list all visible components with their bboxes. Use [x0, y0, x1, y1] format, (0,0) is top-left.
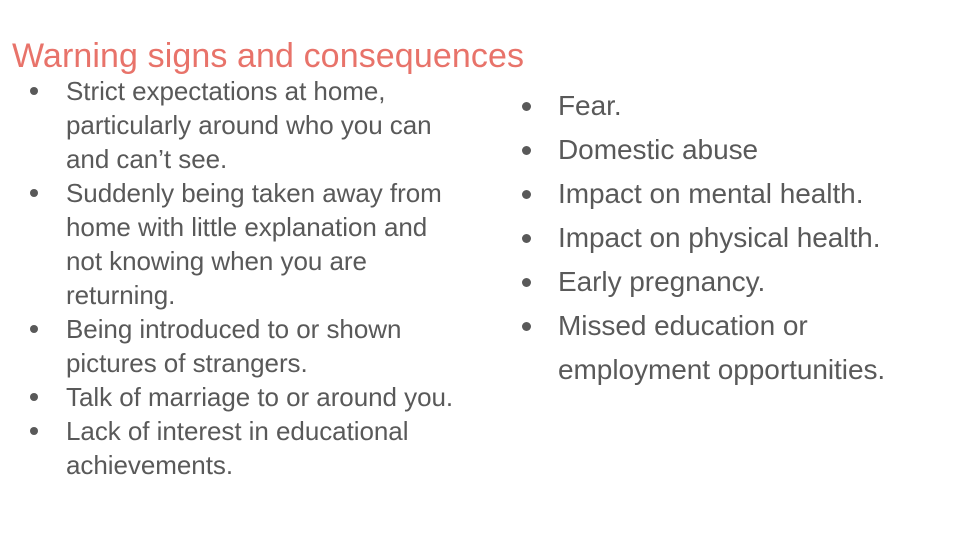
bullet-point-icon	[30, 427, 38, 435]
bullet-point-icon	[522, 322, 531, 331]
list-item[interactable]: Being introduced to or shown pictures of…	[22, 312, 468, 380]
list-item[interactable]: Domestic abuse	[514, 128, 950, 172]
list-item-label: Domestic abuse	[558, 128, 950, 172]
list-item-label: Early pregnancy.	[558, 260, 950, 304]
consequences-list: Fear. Domestic abuse Impact on mental he…	[514, 84, 950, 392]
list-item-label: Suddenly being taken away from home with…	[66, 176, 468, 312]
bullet-point-icon	[522, 102, 531, 111]
list-item[interactable]: Fear.	[514, 84, 950, 128]
bullet-point-icon	[522, 190, 531, 199]
list-item-label: Being introduced to or shown pictures of…	[66, 312, 468, 380]
list-item-label: Impact on physical health.	[558, 216, 950, 260]
list-item[interactable]: Early pregnancy.	[514, 260, 950, 304]
bullet-point-icon	[522, 234, 531, 243]
list-item-label: Impact on mental health.	[558, 172, 950, 216]
list-item-label: Talk of marriage to or around you.	[66, 380, 468, 414]
list-item-label: Lack of interest in educational achievem…	[66, 414, 468, 482]
bullet-point-icon	[522, 278, 531, 287]
bullet-point-icon	[30, 393, 38, 401]
list-item-label: Fear.	[558, 84, 950, 128]
list-item-label: Strict expectations at home, particularl…	[66, 74, 468, 176]
page-title: Warning signs and consequences	[12, 36, 912, 76]
slide-canvas: Warning signs and consequences Strict ex…	[0, 0, 960, 540]
bullet-point-icon	[30, 325, 38, 333]
bullet-point-icon	[30, 189, 38, 197]
list-item[interactable]: Missed education or employment opportuni…	[514, 304, 950, 392]
bullet-point-icon	[30, 87, 38, 95]
warning-signs-list: Strict expectations at home, particularl…	[22, 74, 468, 482]
bullet-point-icon	[522, 146, 531, 155]
list-item-label: Missed education or employment opportuni…	[558, 304, 950, 392]
list-item[interactable]: Impact on mental health.	[514, 172, 950, 216]
list-item[interactable]: Lack of interest in educational achievem…	[22, 414, 468, 482]
list-item[interactable]: Talk of marriage to or around you.	[22, 380, 468, 414]
list-item[interactable]: Impact on physical health.	[514, 216, 950, 260]
list-item[interactable]: Strict expectations at home, particularl…	[22, 74, 468, 176]
list-item[interactable]: Suddenly being taken away from home with…	[22, 176, 468, 312]
